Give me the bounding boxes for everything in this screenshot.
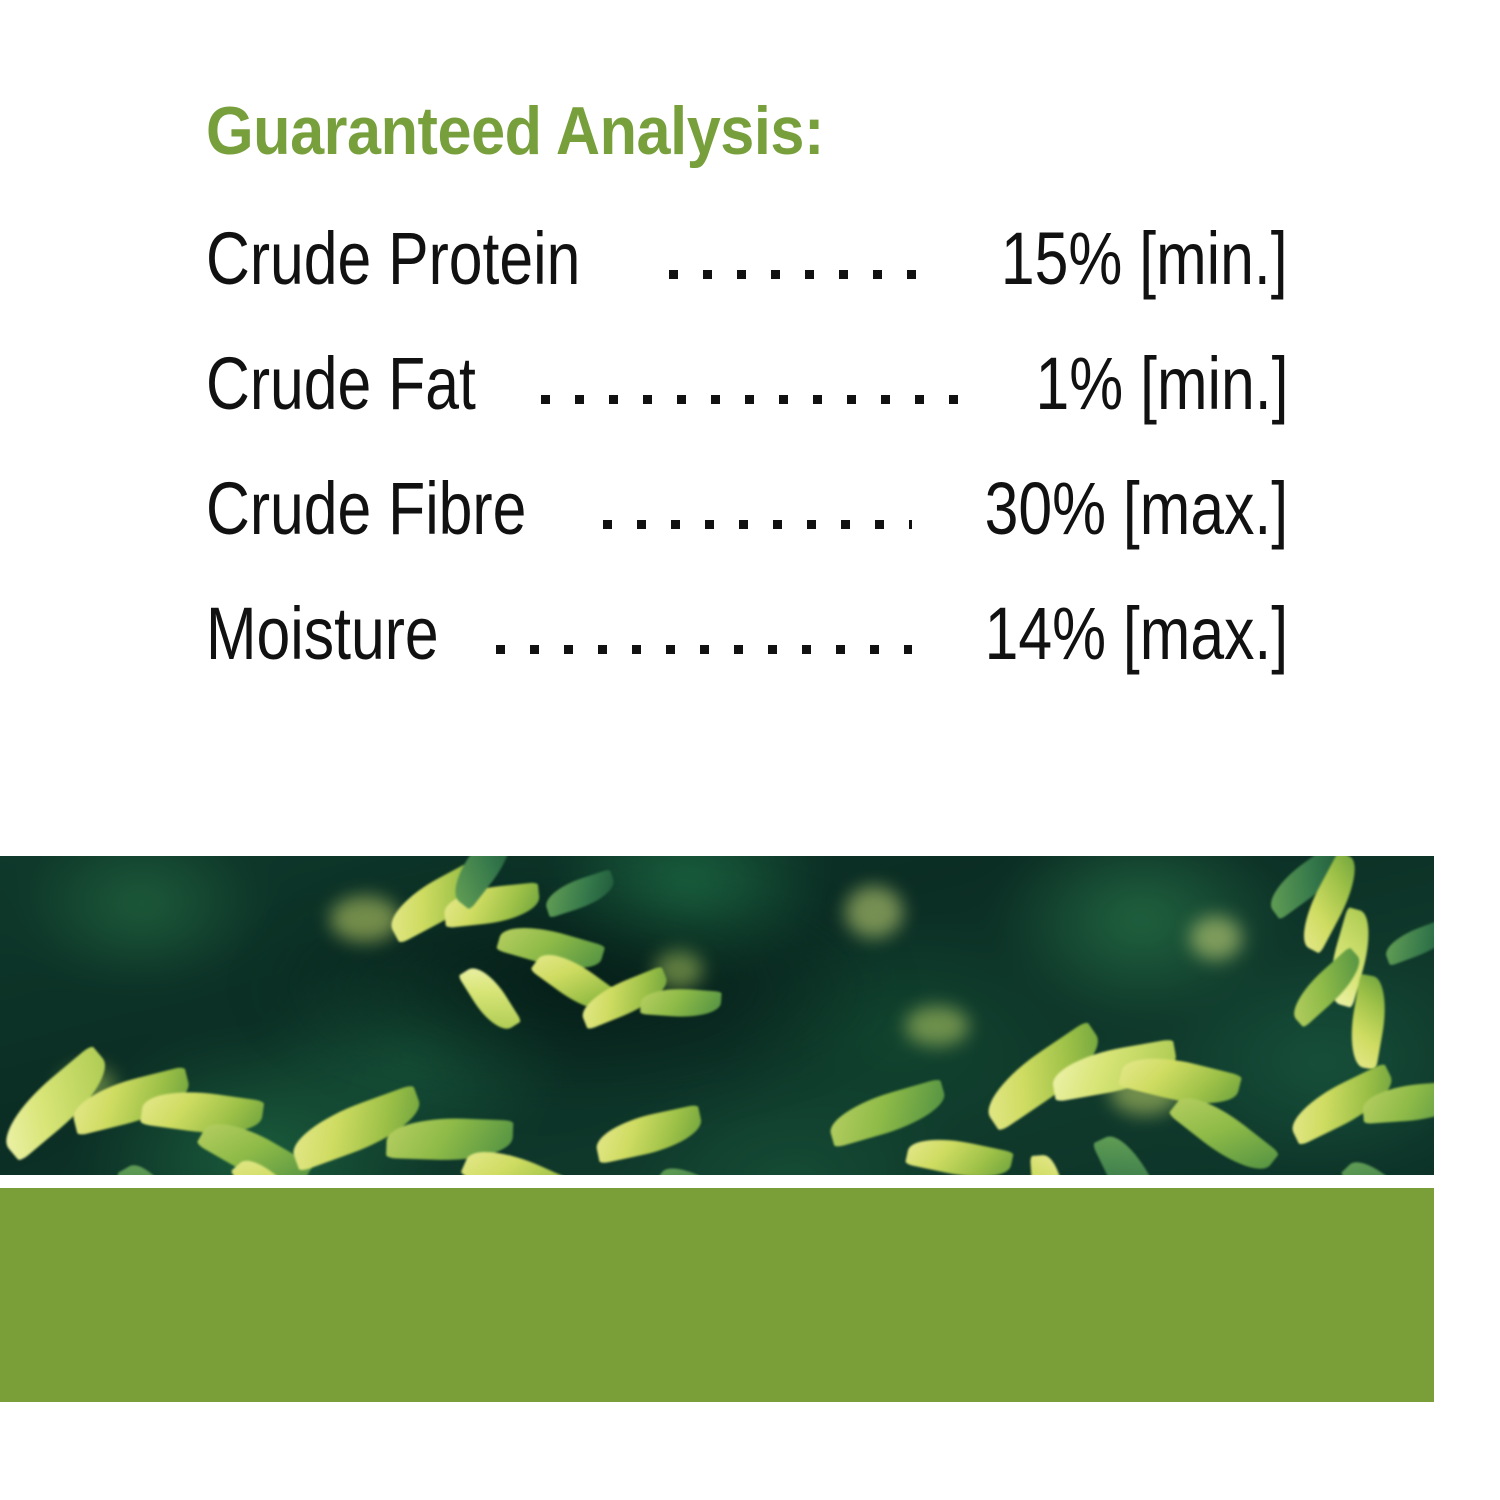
nutrient-value-crude-protein: 15% [min.] [1001, 222, 1288, 296]
bokeh-highlight [905, 1006, 969, 1046]
list-item: Crude Fibre 30% [max.] [206, 472, 1288, 597]
list-item: Crude Protein 15% [min.] [206, 222, 1288, 347]
nutrient-label-moisture: Moisture [206, 597, 439, 671]
dot-leader [496, 597, 912, 671]
bokeh-highlight [1190, 916, 1242, 960]
nutrient-value-wrap: 15% [min.] [938, 222, 1288, 296]
nutrient-value-wrap: 1% [min.] [980, 347, 1288, 421]
dot-leader [603, 472, 912, 546]
nutrient-value-crude-fibre: 30% [max.] [984, 472, 1288, 546]
dot-leader [541, 347, 974, 421]
page-title: Guaranteed Analysis: [206, 97, 824, 165]
nutrient-label-crude-fibre: Crude Fibre [206, 472, 526, 546]
green-footer-bar [0, 1188, 1434, 1402]
bokeh-highlight [845, 886, 903, 938]
bokeh-highlight [330, 896, 400, 942]
nutrient-value-moisture: 14% [max.] [984, 597, 1288, 671]
nutrient-value-crude-fat: 1% [min.] [1035, 347, 1288, 421]
analysis-list: Crude Protein 15% [min.] Crude Fat 1% [m… [206, 222, 1288, 722]
dot-leader [669, 222, 933, 296]
guaranteed-analysis-panel: Guaranteed Analysis: Crude Protein 15% [… [0, 0, 1500, 856]
nutrient-label-crude-fat: Crude Fat [206, 347, 476, 421]
list-item: Moisture 14% [max.] [206, 597, 1288, 722]
nutrient-value-wrap: 14% [max.] [918, 597, 1288, 671]
nutrient-label-crude-protein: Crude Protein [206, 222, 580, 296]
nutrient-value-wrap: 30% [max.] [918, 472, 1288, 546]
list-item: Crude Fat 1% [min.] [206, 347, 1288, 472]
alfalfa-foliage-photo [0, 856, 1434, 1175]
